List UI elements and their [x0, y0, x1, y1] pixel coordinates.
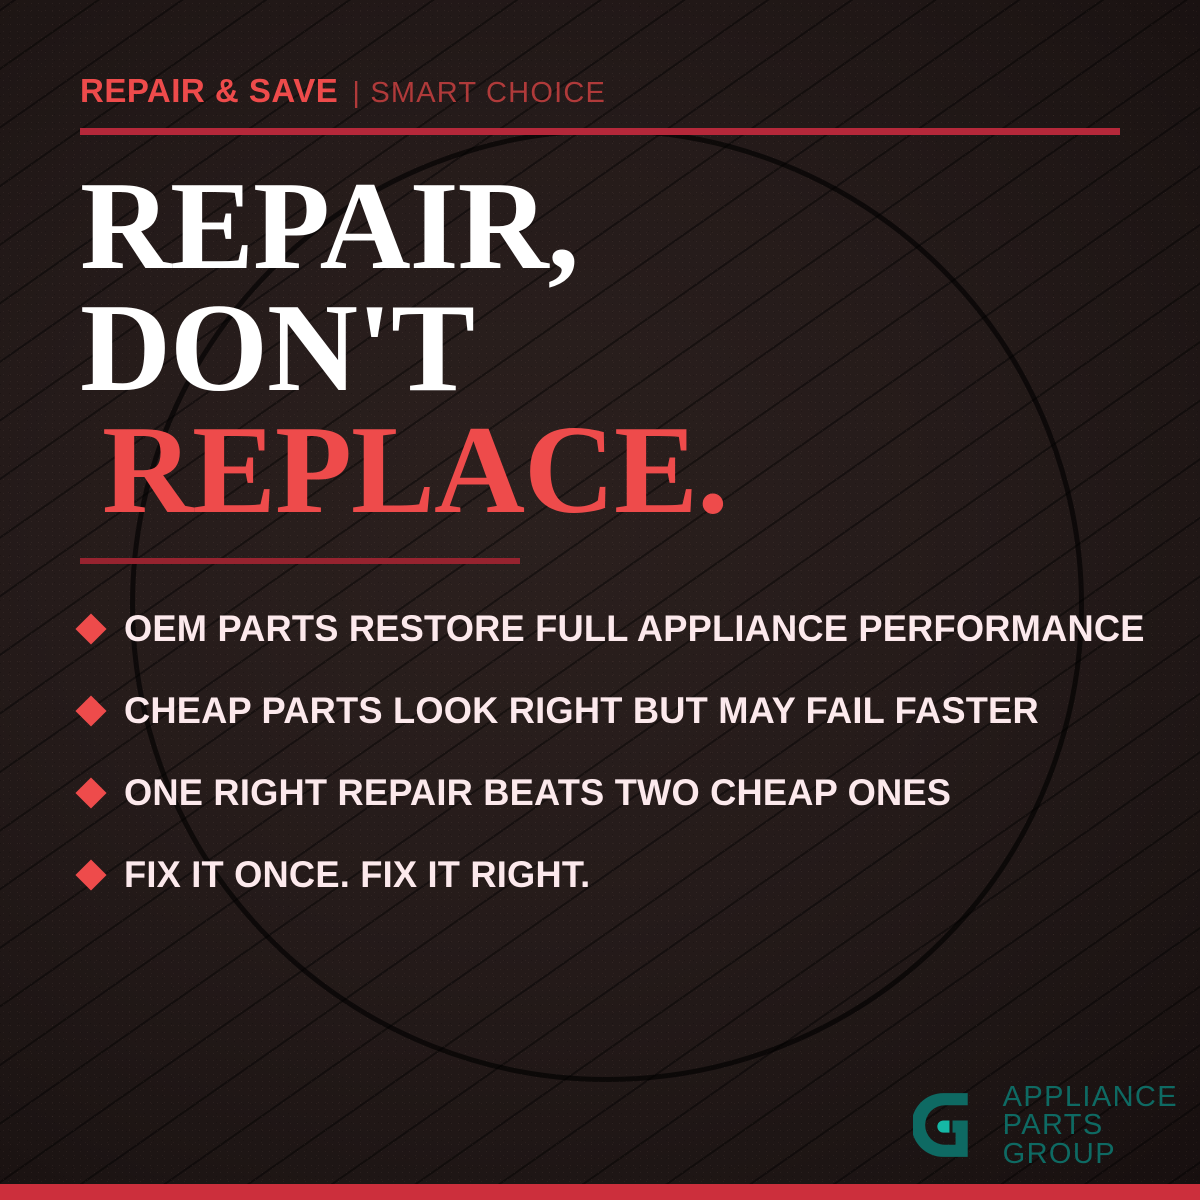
diamond-bullet-icon — [75, 695, 106, 726]
list-item: FIX IT ONCE. FIX IT RIGHT. — [80, 834, 1150, 916]
headline-line-3: REPLACE. — [80, 410, 1130, 532]
logo-word-2: PARTS — [1003, 1111, 1178, 1139]
eyebrow-sub-label: | SMART CHOICE — [352, 77, 606, 110]
headline: REPAIR, DON'T REPLACE. — [80, 166, 1130, 533]
bottom-accent-bar — [0, 1184, 1200, 1200]
list-item-label: ONE RIGHT REPAIR BEATS TWO CHEAP ONES — [124, 772, 951, 814]
logo-word-1: APPLIANCE — [1003, 1083, 1178, 1111]
benefit-list: OEM PARTS RESTORE FULL APPLIANCE PERFORM… — [80, 588, 1150, 916]
diamond-bullet-icon — [75, 613, 106, 644]
poster-content: REPAIR & SAVE | SMART CHOICE REPAIR, DON… — [0, 0, 1200, 1200]
list-item-label: FIX IT ONCE. FIX IT RIGHT. — [124, 854, 590, 896]
eyebrow: REPAIR & SAVE | SMART CHOICE — [80, 72, 606, 110]
list-item: OEM PARTS RESTORE FULL APPLIANCE PERFORM… — [80, 588, 1150, 670]
header-divider-rule — [80, 128, 1120, 135]
list-item-label: OEM PARTS RESTORE FULL APPLIANCE PERFORM… — [124, 608, 1145, 650]
list-item: CHEAP PARTS LOOK RIGHT BUT MAY FAIL FAST… — [80, 670, 1150, 752]
logo-word-3: GROUP — [1003, 1140, 1178, 1168]
promo-poster: REPAIR & SAVE | SMART CHOICE REPAIR, DON… — [0, 0, 1200, 1200]
headline-line-2: DON'T — [80, 288, 1130, 410]
brand-logo: APPLIANCE PARTS GROUP — [913, 1083, 1178, 1168]
logo-wordmark: APPLIANCE PARTS GROUP — [1003, 1083, 1178, 1168]
eyebrow-main-label: REPAIR & SAVE — [80, 72, 338, 110]
appliance-parts-group-g-icon — [913, 1087, 989, 1163]
diamond-bullet-icon — [75, 777, 106, 808]
diamond-bullet-icon — [75, 859, 106, 890]
list-item-label: CHEAP PARTS LOOK RIGHT BUT MAY FAIL FAST… — [124, 690, 1039, 732]
list-item: ONE RIGHT REPAIR BEATS TWO CHEAP ONES — [80, 752, 1150, 834]
headline-divider-rule — [80, 558, 520, 564]
headline-line-1: REPAIR, — [80, 166, 1130, 288]
